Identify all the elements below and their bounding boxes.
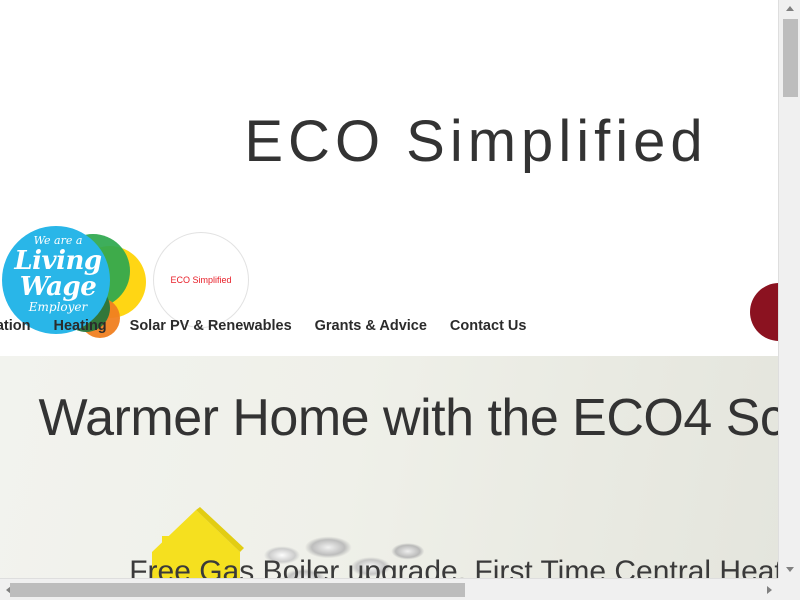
scrollbar-corner [778,578,800,600]
nav-item-contact-us[interactable]: Contact Us [450,313,527,339]
horizontal-scrollbar[interactable] [0,578,800,600]
scroll-down-arrow-icon[interactable] [779,561,800,578]
site-header: ECO Simplified We are a Living Wage Empl… [0,0,778,356]
hero-section: Warmer Home with the ECO4 Scheme Free Ga… [0,356,778,578]
hero-heading: Warmer Home with the ECO4 Scheme [0,382,778,454]
nav-item-heating[interactable]: Heating [53,313,106,339]
living-wage-badge-text: We are a Living Wage Employer [6,234,110,315]
main-navigation: Insulation Heating Solar PV & Renewables… [0,313,549,339]
nav-item-insulation[interactable]: Insulation [0,313,30,339]
eco-simplified-logo-label: ECO Simplified [170,275,231,285]
vertical-scrollbar-thumb[interactable] [783,19,798,97]
nav-item-solar-pv-renewables[interactable]: Solar PV & Renewables [130,313,292,339]
vertical-scrollbar[interactable] [778,0,800,578]
horizontal-scrollbar-thumb[interactable] [10,583,465,597]
site-title: ECO Simplified [0,108,778,176]
page-viewport: ECO Simplified We are a Living Wage Empl… [0,0,778,578]
badge-line-3: Wage [6,274,110,300]
scroll-up-arrow-icon[interactable] [779,0,800,17]
nav-item-grants-advice[interactable]: Grants & Advice [315,313,427,339]
hero-subheading: Free Gas Boiler upgrade, First Time Cent… [0,552,778,578]
red-accent-circle [750,283,778,341]
badge-line-2: Living [6,248,110,274]
scroll-right-arrow-icon[interactable] [761,579,778,600]
